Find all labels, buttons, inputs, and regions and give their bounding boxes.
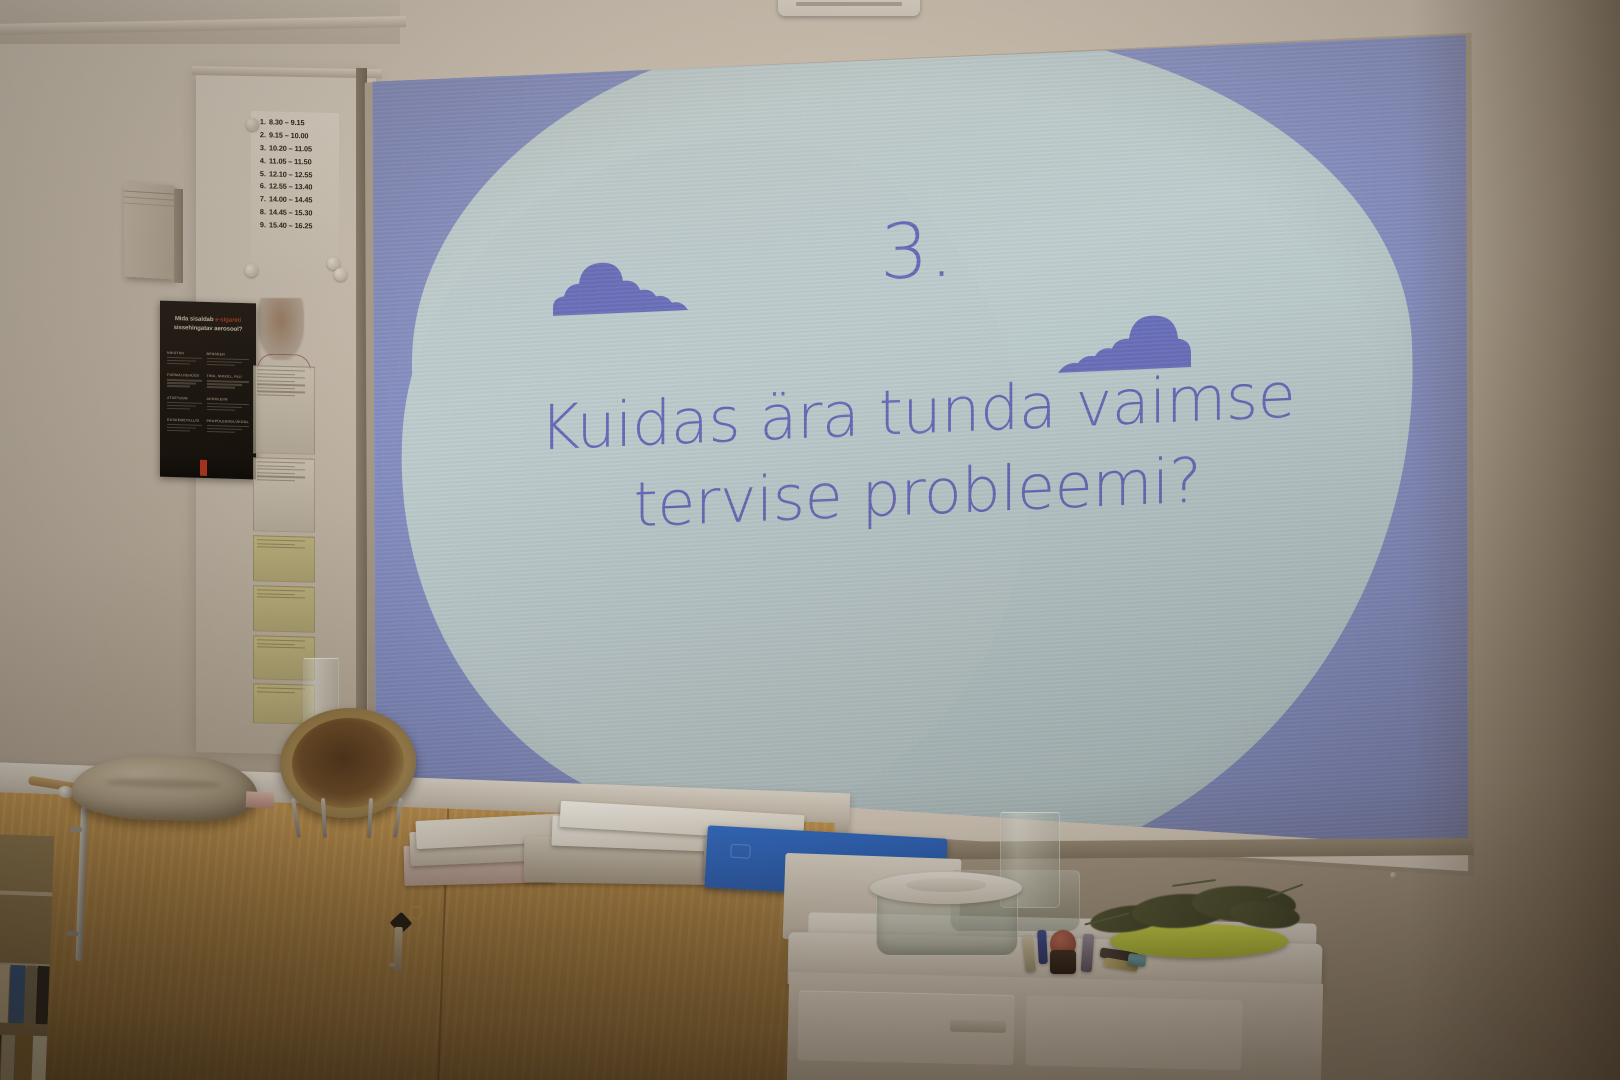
poster-title-part2: sissehingatav aerosool?: [174, 324, 243, 333]
poster-item-body: [207, 380, 249, 389]
poster-item: PROPÜLEENGLÜKOOL: [207, 419, 249, 434]
magnet: [245, 264, 258, 277]
slide-content: 3. Kuidas ära tunda vaimse tervise probl…: [358, 30, 1476, 892]
schedule-row-number: 6.: [257, 183, 266, 191]
schedule-row-time: 10.20 – 11.05: [269, 144, 312, 152]
poster-footer-bar: [200, 460, 207, 476]
poster-item: TINA, NIKKEL, PLII: [207, 374, 249, 389]
schedule-row-number: 5.: [257, 170, 266, 178]
paper-strip: [253, 365, 315, 455]
lesson-schedule-paper: 1.8.30 – 9.152.9.15 – 10.003.10.20 – 11.…: [251, 111, 339, 283]
poster-title: Mida sisaldab e-sigareti sissehingatav a…: [167, 315, 249, 335]
poster-item-body: [167, 424, 202, 432]
slide-title: Kuidas ära tunda vaimse tervise probleem…: [429, 351, 1406, 555]
schedule-row-number: 2.: [257, 131, 266, 139]
poster-item: NIKOTIIN: [167, 351, 202, 365]
poster-column-right: BENSEENTINA, NIKKEL, PLIIAKROLEIINPROPÜL…: [207, 352, 249, 443]
strip-lines: [254, 458, 314, 487]
speaker-side: [174, 189, 183, 284]
ceiling-mounted-device: [778, 0, 920, 16]
small-figurine: [258, 298, 304, 360]
poster-item-label: NIKOTIIN: [167, 351, 202, 356]
poster-item: AKROLEIIN: [207, 397, 249, 412]
magnet: [246, 118, 259, 131]
schedule-row: 1.8.30 – 9.15: [257, 118, 335, 127]
e-cigarette-poster: Mida sisaldab e-sigareti sissehingatav a…: [160, 301, 256, 480]
schedule-row: 5.12.10 – 12.55: [257, 170, 335, 179]
schedule-row-number: 4.: [257, 157, 266, 165]
wall-shadow-bottom: [0, 780, 1620, 1080]
schedule-row: 2.9.15 – 10.00: [257, 131, 335, 140]
strip-lines: [254, 536, 314, 554]
poster-item-label: RASKEMETALLID: [167, 418, 202, 423]
schedule-row: 4.11.05 – 11.50: [257, 157, 335, 166]
strip-lines: [254, 636, 314, 654]
slide-number: 3.: [358, 181, 1476, 321]
paper-strip-yellow: [253, 535, 315, 583]
classroom-scene: 1.8.30 – 9.152.9.15 – 10.003.10.20 – 11.…: [0, 0, 1620, 1080]
schedule-row-number: 3.: [257, 144, 266, 152]
slide-background: 3. Kuidas ära tunda vaimse tervise probl…: [358, 30, 1476, 892]
poster-item-label: AKROLEIIN: [207, 397, 249, 402]
schedule-row-time: 8.30 – 9.15: [269, 118, 304, 126]
schedule-row-time: 15.40 – 16.25: [269, 221, 312, 229]
schedule-row-number: 7.: [257, 195, 266, 203]
poster-item: FORMALDEHÜÜD: [167, 373, 202, 387]
poster-item-label: ATSETOON: [167, 396, 202, 401]
board-surface: 3. Kuidas ära tunda vaimse tervise probl…: [358, 30, 1476, 892]
schedule-row-time: 12.55 – 13.40: [269, 183, 312, 191]
schedule-row-time: 14.00 – 14.45: [269, 196, 312, 204]
poster-item-body: [167, 402, 202, 410]
paper-strip-yellow: [253, 585, 315, 633]
poster-columns: NIKOTIINFORMALDEHÜÜDATSETOONRASKEMETALLI…: [167, 351, 249, 443]
schedule-row-number: 8.: [257, 208, 266, 216]
poster-item-body: [167, 379, 202, 387]
poster-footer: [160, 455, 256, 480]
schedule-row-time: 9.15 – 10.00: [269, 131, 308, 139]
poster-item-body: [207, 425, 249, 434]
schedule-row: 8.14.45 – 15.30: [257, 208, 335, 217]
poster-item-label: PROPÜLEENGLÜKOOL: [207, 419, 249, 424]
poster-title-highlight: e-sigareti: [215, 316, 241, 324]
poster-item-label: FORMALDEHÜÜD: [167, 373, 202, 378]
schedule-row: 7.14.00 – 14.45: [257, 195, 335, 204]
poster-title-part1: Mida sisaldab: [175, 315, 215, 323]
wall-mounted-speaker: [124, 182, 174, 279]
schedule-row-number: 9.: [257, 221, 266, 229]
poster-item-body: [207, 358, 249, 367]
poster-item: RASKEMETALLID: [167, 418, 202, 432]
device-label: [796, 2, 902, 6]
schedule-row: 6.12.55 – 13.40: [257, 183, 335, 192]
strip-lines: [254, 586, 314, 604]
projected-slide: 3. Kuidas ära tunda vaimse tervise probl…: [358, 30, 1476, 892]
poster-item-body: [207, 403, 249, 412]
schedule-row-time: 11.05 – 11.50: [269, 157, 312, 165]
schedule-row-time: 12.10 – 12.55: [269, 170, 312, 178]
poster-item-body: [167, 357, 202, 365]
schedule-row: 9.15.40 – 16.25: [257, 221, 335, 230]
paper-strip: [253, 457, 315, 533]
poster-item: ATSETOON: [167, 396, 202, 410]
schedule-row: 3.10.20 – 11.05: [257, 144, 335, 153]
strip-lines: [254, 366, 314, 402]
whiteboard-with-projection: 3. Kuidas ära tunda vaimse tervise probl…: [358, 30, 1478, 900]
schedule-row-time: 14.45 – 15.30: [269, 209, 312, 217]
poster-column-left: NIKOTIINFORMALDEHÜÜDATSETOONRASKEMETALLI…: [167, 351, 202, 441]
poster-item: BENSEEN: [207, 352, 249, 367]
poster-item-label: TINA, NIKKEL, PLII: [207, 374, 249, 379]
magnet: [334, 268, 347, 281]
poster-item-label: BENSEEN: [207, 352, 249, 357]
